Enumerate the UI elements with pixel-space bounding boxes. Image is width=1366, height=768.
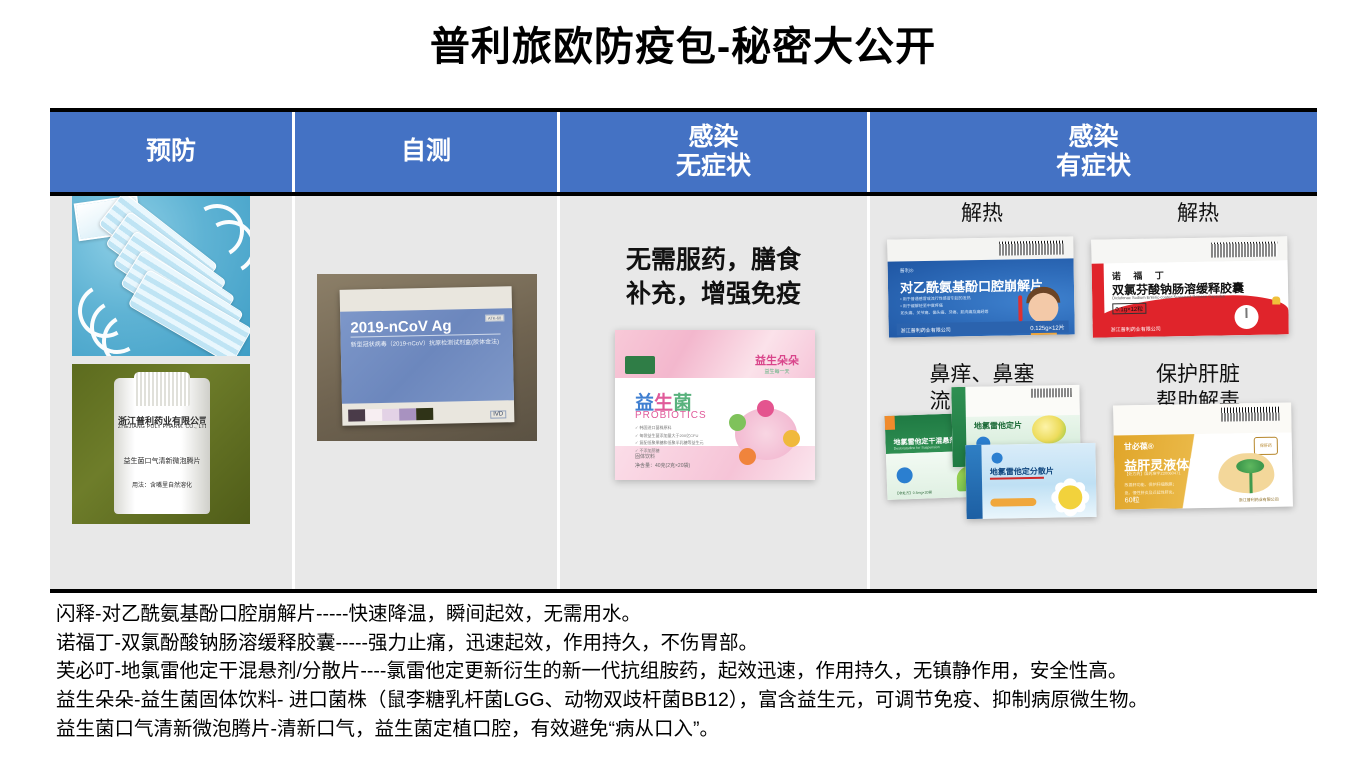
paracetamol-company: 浙江普利药业有限公司 [901, 327, 951, 335]
label-antipyretic-2: 解热 [1098, 200, 1298, 227]
probiotics-bullet: ✓ 每袋益生菌添加量大于200亿CFU [635, 432, 703, 440]
table-body-row: 浙江普利药业有限公司 ZHEJIANG POLY PHARM. CO., LTD… [50, 196, 1317, 593]
table-header-row: 预防 自测 感染 无症状 感染 有症状 [50, 108, 1317, 196]
gut-dot [739, 448, 756, 465]
paracetamol-brand: 普利® [900, 267, 914, 274]
page-title: 普利旅欧防疫包-秘密大公开 [0, 14, 1366, 72]
probiotics-gut-graphic [735, 408, 797, 460]
gut-dot [729, 414, 746, 431]
probiotics-title-en: PROBIOTICS [635, 410, 707, 421]
cell-infected-asymptomatic: 无需服药，膳食 补充，增强免疫 益生朵朵 益生每一天 益生菌 PROBIOTIC… [560, 196, 870, 589]
bottle-usage: 用法：含嘴里自然溶化 [118, 480, 206, 489]
diclofenac-spec: 0.1g×12粒 [1112, 303, 1146, 315]
test-kit-corner-tag: ATK-60 [485, 314, 504, 321]
tablet-box-top [951, 385, 1080, 417]
paracetamol-box-top [887, 236, 1073, 261]
diclofenac-box: 诺 福 丁 双氯芬酸钠肠溶缓释胶囊 Diclofenac Sodium Ente… [1091, 236, 1289, 337]
footnote-line: 益生朵朵-益生菌固体饮料- 进口菌株（鼠李糖乳杆菌LGG、动物双歧杆菌BB12）… [56, 686, 1346, 715]
bottle-product-name: 益生菌口气清新微泡腾片 [118, 456, 206, 466]
table-header-prevention: 预防 [50, 112, 295, 192]
surgical-masks-photo [72, 196, 250, 356]
cell-self-test: ATK-60 2019-nCoV Ag 新型冠状病毒（2019-nCoV）抗原检… [295, 196, 560, 589]
paracetamol-indication: 如头痛、关节痛、偏头痛、牙痛、肌肉痛及痛经等 [900, 308, 988, 317]
footnote-line: 诺福丁-双氯酚酸钠肠溶缓释胶囊-----强力止痛，迅速起效，作用持久，不伤胃部。 [56, 629, 1346, 658]
diclofenac-capsule-icon [1272, 296, 1280, 312]
probiotics-brand: 益生朵朵 益生每一天 [755, 352, 799, 375]
probiotics-company-logo [625, 356, 655, 374]
table-header-infected-symptomatic: 感染 有症状 [870, 112, 1317, 192]
cell-infected-symptomatic: 解热 解热 鼻痒、鼻塞 流涕、喷嚏 保护肝脏 帮助解毒 普利® 对乙酰氨基酚口腔… [870, 196, 1317, 589]
liver-company: 浙江普利药业有限公司 [1239, 497, 1279, 504]
suspension-corner-accent [885, 416, 895, 430]
prevention-table: 预防 自测 感染 无症状 感染 有症状 [50, 108, 1317, 593]
slide: 普利旅欧防疫包-秘密大公开 预防 自测 感染 无症状 感染 有症状 [0, 0, 1366, 768]
liver-capsule-box: 甘必葆® 益肝灵液体胶囊 【处方药】国药准字Z20060471 改善肝功能、保护… [1113, 402, 1293, 509]
liver-seal-badge: 保肝药 [1254, 437, 1278, 455]
tablet-side-panel [951, 387, 966, 467]
test-kit-color-swatches [348, 408, 433, 422]
diclofenac-company: 浙江普利药业有限公司 [1111, 326, 1161, 334]
probiotics-footer: 固体饮料 净含量：40克(2克×20袋) [635, 453, 690, 470]
footnote-line: 芙必叮-地氯雷他定干混悬剂/分散片----氯雷他定更新衍生的新一代抗组胺药，起效… [56, 657, 1346, 686]
liver-approval: 【处方药】国药准字Z20060471 [1124, 470, 1180, 477]
gut-dot [757, 400, 774, 417]
probiotics-bullet: ✓ 韩国进口菌株原料 [635, 424, 703, 432]
footnotes: 闪释-对乙酰氨基酚口腔崩解片-----快速降温，瞬间起效，无需用水。 诺福丁-双… [56, 600, 1346, 743]
diclofenac-box-top [1091, 236, 1287, 263]
dispersible-title-cn: 地氯雷他定分散片 [990, 466, 1054, 478]
liver-spec: 60粒 [1125, 495, 1140, 505]
test-kit-box: ATK-60 2019-nCoV Ag 新型冠状病毒（2019-nCoV）抗原检… [340, 286, 515, 426]
liver-indications: 改善肝功能、保护肝细胞膜； 急、慢性肝炎及迁延性肝炎。 [1124, 480, 1176, 496]
footnote-line: 益生菌口气清新微泡腾片-清新口气，益生菌定植口腔，有效避免“病从口入”。 [56, 715, 1346, 744]
paracetamol-indications: • 用于普通感冒或流行性感冒引起的发热 • 用于缓解轻至中度疼痛 如头痛、关节痛… [900, 294, 988, 317]
dispersible-side-panel [965, 445, 982, 519]
barcode-icon [1221, 407, 1279, 422]
barcode-icon [1211, 241, 1277, 257]
table-header-self-test: 自测 [295, 112, 560, 192]
barcode-icon [999, 241, 1063, 256]
gut-dot [783, 430, 800, 447]
test-kit-title: 2019-nCoV Ag [350, 317, 451, 336]
footnote-line: 闪释-对乙酰氨基酚口腔崩解片-----快速降温，瞬间起效，无需用水。 [56, 600, 1346, 629]
probiotics-bullets: ✓ 韩国进口菌株原料 ✓ 每袋益生菌添加量大于200亿CFU ✓ 复配低聚果糖和… [635, 424, 703, 454]
probiotics-category: 固体饮料 [635, 453, 690, 462]
dispersible-orange-badge [990, 498, 1036, 507]
probiotics-brand-cn: 益生朵朵 [755, 352, 799, 368]
probiotics-brand-tag: 益生每一天 [755, 368, 799, 375]
bottle-company-en: ZHEJIANG POLY PHARM. CO., LTD. [118, 424, 206, 430]
desloratadine-dispersible-box: 地氯雷他定分散片 [965, 443, 1096, 519]
probiotics-spec: 净含量：40克(2克×20袋) [635, 462, 690, 471]
paracetamol-spec: 0.125g×12片 [1030, 323, 1065, 333]
probiotics-bullet: ✓ 复配低聚果糖和低聚半乳糖等益生元 [635, 439, 703, 447]
barcode-icon [1031, 388, 1071, 398]
probiotics-box: 益生朵朵 益生每一天 益生菌 PROBIOTICS ✓ 韩国进口菌株原料 ✓ 每… [615, 330, 815, 480]
cell-prevention: 浙江普利药业有限公司 ZHEJIANG POLY PHARM. CO., LTD… [50, 196, 295, 589]
liver-brand: 甘必葆® [1124, 441, 1154, 453]
bottle-cap [134, 372, 190, 406]
table-header-infected-asymptomatic: 感染 无症状 [560, 112, 870, 192]
tablet-title-cn: 地氯雷他定片 [974, 420, 1022, 432]
label-antipyretic-1: 解热 [882, 200, 1082, 227]
antigen-test-kit-photo: ATK-60 2019-nCoV Ag 新型冠状病毒（2019-nCoV）抗原检… [317, 274, 537, 441]
breath-freshener-bottle-photo: 浙江普利药业有限公司 ZHEJIANG POLY PHARM. CO., LTD… [72, 364, 250, 524]
dispersible-box-front [965, 443, 1096, 519]
liver-box-top [1113, 402, 1291, 435]
paracetamol-box: 普利® 对乙酰氨基酚口腔崩解片 • 用于普通感冒或流行性感冒引起的发热 • 用于… [887, 236, 1075, 337]
asymptomatic-advice-text: 无需服药，膳食 补充，增强免疫 [560, 244, 867, 312]
test-kit-ivd-mark: IVD [490, 410, 506, 418]
thermometer-icon [1018, 295, 1022, 321]
